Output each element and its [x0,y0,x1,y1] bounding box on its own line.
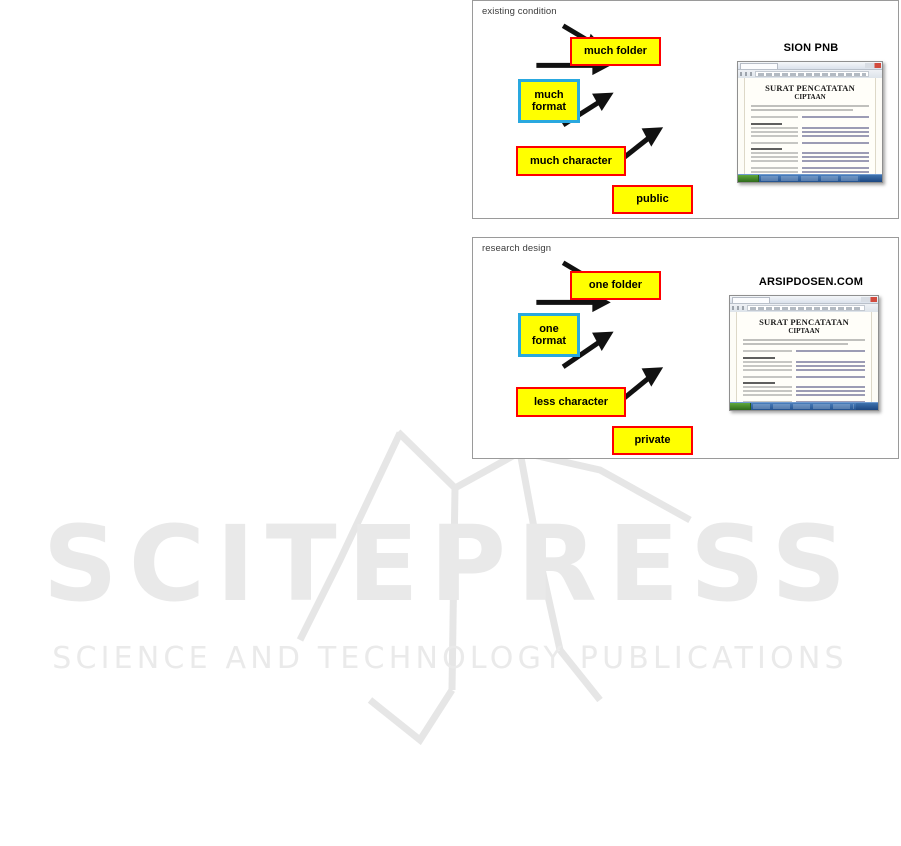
watermark-primary-text: SCITEPRESS [43,503,857,625]
document-field-row [751,142,870,144]
document-field-row [751,135,870,137]
document-field-row [751,116,870,118]
callout-label-much-format: much format [532,89,566,114]
screenshot-arsipdosen: SURAT PENCATATAN CIPTAAN [729,295,879,411]
document-page: SURAT PENCATATAN CIPTAAN [730,312,878,403]
document-field-row [743,369,865,371]
start-button-icon [738,175,759,182]
document-paragraph-line [743,343,848,345]
document-field-row [751,152,870,154]
document-field-row [743,365,865,367]
windows-taskbar [730,402,878,410]
document-paper: SURAT PENCATATAN CIPTAAN [744,78,877,175]
browser-titlebar [730,296,878,304]
taskbar-items [761,176,858,181]
callout-box-one-folder[interactable]: one folder [570,271,661,300]
browser-nav-icons [732,306,745,310]
panel-label-research: research design [482,243,551,254]
window-controls-icon [861,297,877,302]
document-field-row [743,350,865,352]
document-field-row [743,376,865,378]
arrow-head-public [642,128,662,146]
document-field-row [751,171,870,173]
browser-url-text [750,307,862,310]
callout-label-public: public [636,193,668,205]
browser-tab [732,297,770,303]
document-field-row [743,386,865,388]
callout-label-less-character: less character [534,396,608,408]
taskbar-items [753,404,854,409]
document-section-header [751,123,870,125]
document-title: SURAT PENCATATAN [745,83,876,93]
browser-nav-icons [740,72,753,76]
target-title-sion-pnb: SION PNB [741,42,881,54]
callout-label-private: private [634,434,670,446]
arrow-head-much-character [593,93,613,110]
window-controls-icon [865,63,881,68]
document-paper: SURAT PENCATATAN CIPTAAN [736,312,872,403]
document-page: SURAT PENCATATAN CIPTAAN [738,78,882,175]
document-field-row [751,160,870,162]
browser-titlebar [738,62,882,70]
target-title-arsipdosen: ARSIPDOSEN.COM [721,276,901,288]
callout-box-much-folder[interactable]: much folder [570,37,661,66]
document-title: SURAT PENCATATAN [737,317,871,327]
screenshot-sion-pnb: SURAT PENCATATAN CIPTAAN [737,61,883,183]
callout-box-one-format[interactable]: one format [518,313,580,357]
callout-box-much-character[interactable]: much character [516,146,626,176]
arrow-head-less-character [593,332,613,350]
document-paragraph-line [751,105,870,107]
callout-box-public[interactable]: public [612,185,693,214]
watermark-book-icon [232,418,690,740]
document-section-header [743,382,865,384]
callout-box-less-character[interactable]: less character [516,387,626,417]
browser-tab [740,63,778,69]
document-field-row [743,361,865,363]
browser-address-field [747,305,865,311]
document-paragraph-line [743,339,865,341]
document-subtitle: CIPTAAN [745,93,876,101]
watermark-secondary-text: SCIENCE AND TECHNOLOGY PUBLICATIONS [52,641,848,676]
start-button-icon [730,403,751,410]
document-paragraph-line [751,109,853,111]
document-field-row [751,127,870,129]
document-field-row [751,131,870,133]
document-field-row [751,167,870,169]
windows-taskbar [738,174,882,182]
callout-label-much-folder: much folder [584,45,647,57]
arrow-head-private [642,368,662,386]
document-section-header [751,148,870,150]
browser-address-field [755,71,869,77]
document-subtitle: CIPTAAN [737,327,871,335]
callout-box-much-format[interactable]: much format [518,79,580,123]
panel-research-design: research design ARSIPDOSEN.COM SURAT PEN… [472,237,899,459]
document-field-row [743,390,865,392]
system-tray-icon [860,175,882,182]
document-field-row [751,156,870,158]
callout-label-one-format: one format [532,323,566,348]
browser-url-text [758,73,866,76]
callout-label-one-folder: one folder [589,279,642,291]
panel-existing-condition: existing condition SION PNB SURAT PENCAT… [472,0,899,219]
panel-label-existing: existing condition [482,6,557,17]
document-section-header [743,357,865,359]
document-field-row [743,394,865,396]
system-tray-icon [856,403,878,410]
callout-label-much-character: much character [530,155,612,167]
callout-box-private[interactable]: private [612,426,693,455]
